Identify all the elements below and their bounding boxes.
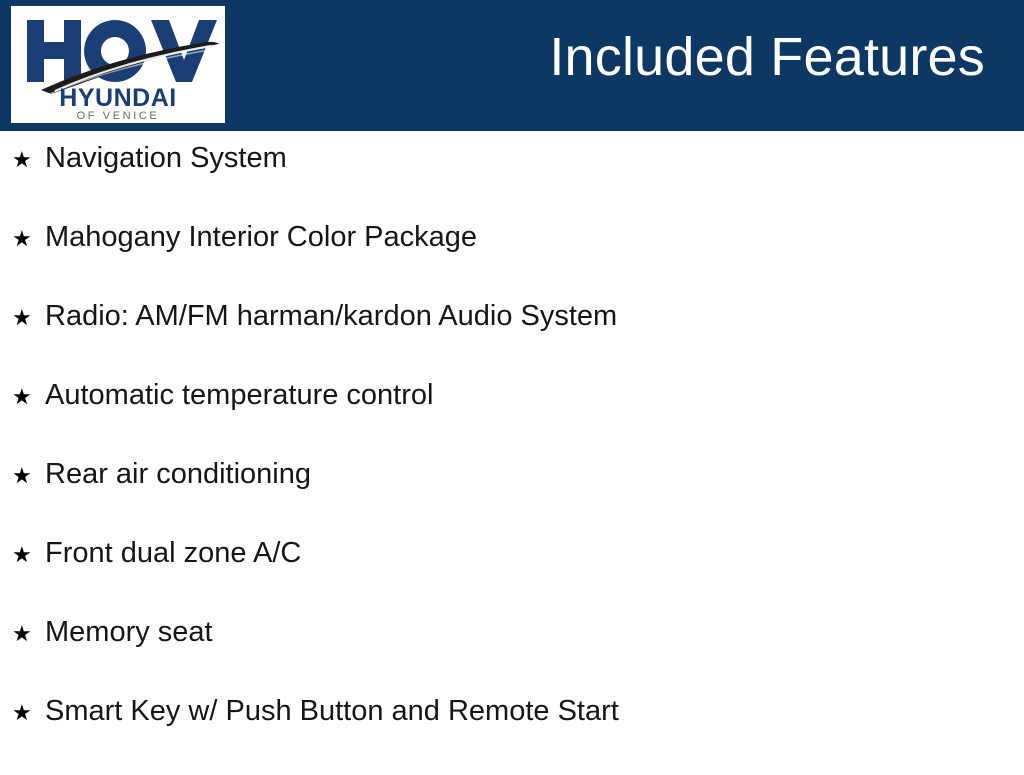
feature-label: Rear air conditioning xyxy=(45,459,311,489)
slide: HYUNDAI OF VENICE Included Features ★ Na… xyxy=(0,0,1024,768)
list-item: ★ Front dual zone A/C xyxy=(0,538,1024,617)
star-bullet-icon: ★ xyxy=(12,620,45,650)
included-features-list: ★ Navigation System ★ Mahogany Interior … xyxy=(0,143,1024,775)
list-item: ★ Radio: AM/FM harman/kardon Audio Syste… xyxy=(0,301,1024,380)
star-bullet-icon: ★ xyxy=(12,304,45,334)
star-bullet-icon: ★ xyxy=(12,383,45,413)
list-item: ★ Smart Key w/ Push Button and Remote St… xyxy=(0,696,1024,775)
feature-label: Memory seat xyxy=(45,617,213,647)
list-item: ★ Rear air conditioning xyxy=(0,459,1024,538)
star-bullet-icon: ★ xyxy=(12,146,45,176)
star-bullet-icon: ★ xyxy=(12,699,45,729)
logo-tagline-text: OF VENICE xyxy=(77,110,160,122)
page-title: Included Features xyxy=(549,28,985,86)
list-item: ★ Memory seat xyxy=(0,617,1024,696)
feature-label: Mahogany Interior Color Package xyxy=(45,222,477,252)
logo-brand-text: HYUNDAI xyxy=(59,84,176,112)
logo-icon: HYUNDAI OF VENICE xyxy=(11,6,225,123)
feature-label: Smart Key w/ Push Button and Remote Star… xyxy=(45,696,619,726)
list-item: ★ Mahogany Interior Color Package xyxy=(0,222,1024,301)
star-bullet-icon: ★ xyxy=(12,225,45,255)
star-bullet-icon: ★ xyxy=(12,541,45,571)
list-item: ★ Automatic temperature control xyxy=(0,380,1024,459)
feature-label: Automatic temperature control xyxy=(45,380,433,410)
list-item: ★ Navigation System xyxy=(0,143,1024,222)
star-bullet-icon: ★ xyxy=(12,462,45,492)
feature-label: Front dual zone A/C xyxy=(45,538,301,568)
hov-hyundai-of-venice-logo: HYUNDAI OF VENICE xyxy=(11,6,225,123)
feature-label: Radio: AM/FM harman/kardon Audio System xyxy=(45,301,617,331)
logo-container[interactable]: HYUNDAI OF VENICE xyxy=(11,6,225,123)
feature-label: Navigation System xyxy=(45,143,287,173)
